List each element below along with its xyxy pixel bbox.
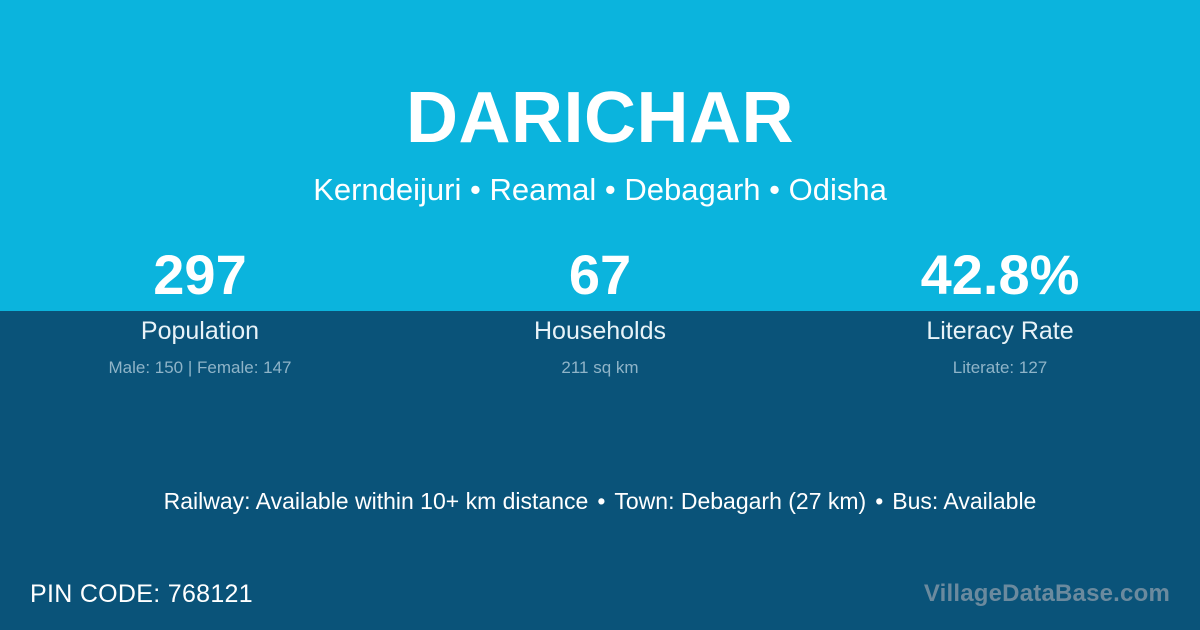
stat-value: 297 <box>0 244 400 310</box>
village-info-card: DARICHAR Kerndeijuri • Reamal • Debagarh… <box>0 0 1200 630</box>
stat-label: Population <box>0 310 400 346</box>
stat-value: 42.8% <box>800 244 1200 310</box>
card-footer: PIN CODE: 768121 VillageDataBase.com <box>0 568 1200 630</box>
page-title: DARICHAR <box>0 0 1200 154</box>
stats-row: 297 Population Male: 150 | Female: 147 6… <box>0 244 1200 379</box>
pin-code: PIN CODE: 768121 <box>30 579 253 609</box>
facility-town: Town: Debagarh (27 km) <box>614 488 866 514</box>
stat-households: 67 Households 211 sq km <box>400 244 800 379</box>
breadcrumb: Kerndeijuri • Reamal • Debagarh • Odisha <box>0 154 1200 205</box>
stat-value: 67 <box>400 244 800 310</box>
stat-sublabel: 211 sq km <box>400 346 800 379</box>
site-watermark: VillageDataBase.com <box>924 579 1170 609</box>
stat-label: Literacy Rate <box>800 310 1200 346</box>
stat-sublabel: Literate: 127 <box>800 346 1200 379</box>
facility-separator: • <box>588 488 614 514</box>
stat-literacy-rate: 42.8% Literacy Rate Literate: 127 <box>800 244 1200 379</box>
facility-railway: Railway: Available within 10+ km distanc… <box>164 488 589 514</box>
stat-label: Households <box>400 310 800 346</box>
card-header: DARICHAR Kerndeijuri • Reamal • Debagarh… <box>0 0 1200 205</box>
stat-population: 297 Population Male: 150 | Female: 147 <box>0 244 400 379</box>
facilities-line: Railway: Available within 10+ km distanc… <box>0 487 1200 515</box>
facility-separator: • <box>866 488 892 514</box>
facility-bus: Bus: Available <box>892 488 1036 514</box>
stat-sublabel: Male: 150 | Female: 147 <box>0 346 400 379</box>
